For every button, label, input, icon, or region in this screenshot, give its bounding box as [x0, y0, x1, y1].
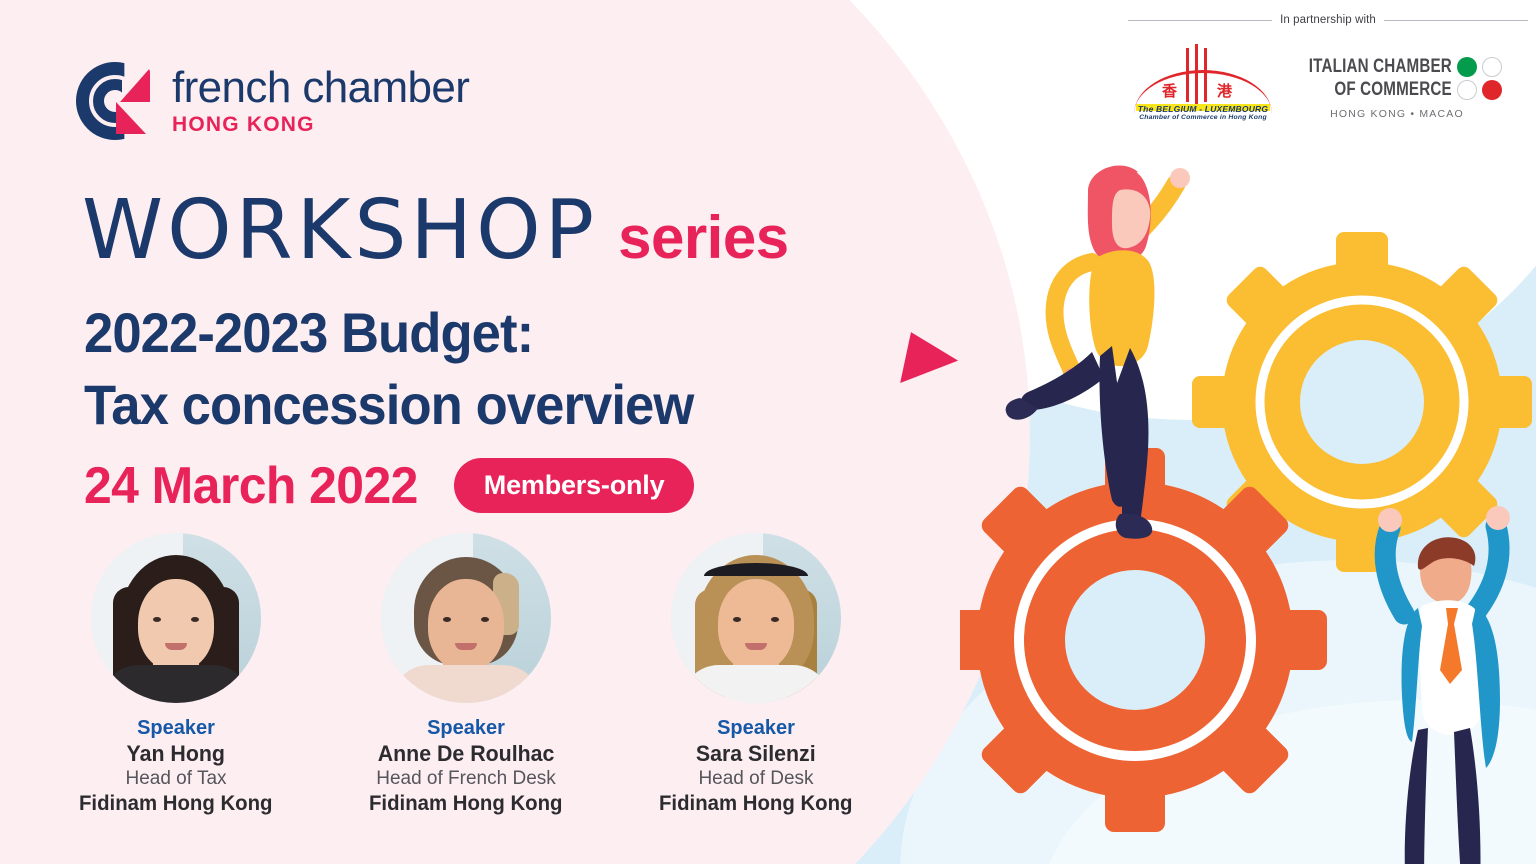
speaker-job-title: Head of Tax — [125, 767, 226, 791]
members-only-badge: Members-only — [454, 458, 695, 513]
italian-row-1: ITALIAN CHAMBER — [1273, 56, 1502, 77]
workshop-wordmark: WORKSHOP — [82, 190, 598, 272]
speaker-job-title: Head of Desk — [698, 767, 813, 791]
avatar — [671, 533, 841, 703]
speaker-card: Speaker Sara Silenzi Head of Desk Fidina… — [640, 533, 872, 817]
speaker-role-label: Speaker — [137, 717, 215, 741]
event-date: 24 March 2022 — [84, 460, 418, 512]
speaker-name: Anne De Roulhac — [378, 741, 555, 767]
belux-subtitle: Chamber of Commerce in Hong Kong — [1128, 114, 1278, 121]
italian-line-1: ITALIAN CHAMBER — [1309, 56, 1452, 77]
date-row: 24 March 2022 Members-only — [84, 458, 694, 513]
speaker-name: Sara Silenzi — [696, 741, 816, 767]
gear-orange — [960, 448, 1327, 832]
speaker-job-title: Head of French Desk — [376, 767, 556, 791]
italy-red-dot-icon — [1482, 80, 1502, 100]
italy-green-dot-icon — [1457, 57, 1477, 77]
pink-triangle-accent-icon — [900, 332, 962, 394]
divider-right — [1384, 20, 1528, 21]
divider-left — [1128, 20, 1272, 21]
italy-white-dot-icon — [1482, 57, 1502, 77]
italian-chamber-logo: ITALIAN CHAMBER OF COMMERCE HONG KONG • … — [1292, 34, 1502, 120]
belux-mast-2-icon — [1195, 44, 1198, 106]
partnership-block: In partnership with 香 港 The BELGIUM - LU… — [1128, 14, 1528, 144]
belux-cjk-1: 香 — [1162, 84, 1177, 99]
logo-name: french chamber — [172, 66, 469, 110]
belux-mast-1-icon — [1186, 48, 1189, 102]
speaker-organisation: Fidinam Hong Kong — [79, 791, 272, 817]
italian-rows: ITALIAN CHAMBER OF COMMERCE — [1292, 56, 1502, 101]
speaker-organisation: Fidinam Hong Kong — [659, 791, 852, 817]
event-banner: french chamber HONG KONG In partnership … — [0, 0, 1536, 864]
cci-mark-icon — [76, 62, 158, 140]
speaker-role-label: Speaker — [717, 717, 795, 741]
avatar — [381, 533, 551, 703]
belgium-luxembourg-logo: 香 港 The BELGIUM - LUXEMBOURG Chamber of … — [1128, 34, 1278, 126]
partnership-header: In partnership with — [1128, 14, 1528, 26]
illustration-svg — [960, 120, 1536, 864]
belux-mast-3-icon — [1204, 48, 1207, 102]
italian-subtitle: HONG KONG • MACAO — [1292, 108, 1502, 120]
partner-logos: 香 港 The BELGIUM - LUXEMBOURG Chamber of … — [1128, 34, 1528, 126]
logo-wordmark: french chamber HONG KONG — [172, 66, 469, 137]
speaker-card: Speaker Yan Hong Head of Tax Fidinam Hon… — [60, 533, 292, 817]
speakers-list: Speaker Yan Hong Head of Tax Fidinam Hon… — [60, 533, 872, 817]
speaker-role-label: Speaker — [427, 717, 505, 741]
speaker-card: Speaker Anne De Roulhac Head of French D… — [350, 533, 582, 817]
logo-city: HONG KONG — [172, 113, 469, 137]
speaker-name: Yan Hong — [127, 741, 225, 767]
event-title-line-1: 2022-2023 Budget: — [84, 305, 533, 361]
belux-cjk-2: 港 — [1217, 84, 1232, 99]
partnership-label: In partnership with — [1280, 14, 1376, 26]
gears-illustration — [960, 120, 1536, 864]
italian-row-2: OF COMMERCE — [1305, 79, 1502, 100]
italian-line-2: OF COMMERCE — [1335, 79, 1452, 100]
french-chamber-logo: french chamber HONG KONG — [76, 62, 469, 140]
series-label: series — [618, 208, 789, 268]
belux-name: The BELGIUM - LUXEMBOURG — [1128, 104, 1278, 114]
speaker-organisation: Fidinam Hong Kong — [369, 791, 562, 817]
headline-workshop-row: WORKSHOP series — [82, 190, 789, 272]
figure-man — [1378, 506, 1510, 864]
avatar — [91, 533, 261, 703]
event-title-line-2: Tax concession overview — [84, 377, 693, 433]
italy-white-dot-2-icon — [1457, 80, 1477, 100]
